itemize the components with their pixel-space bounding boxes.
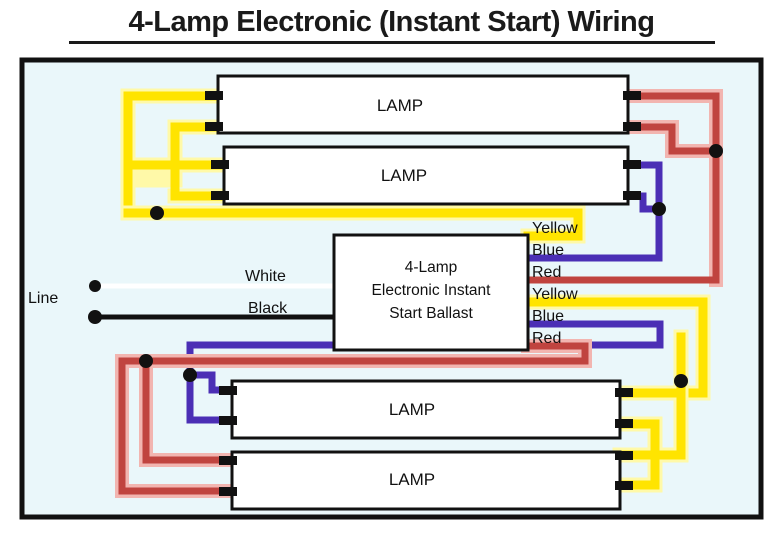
ballast-box: 4-Lamp Electronic Instant Start Ballast <box>334 235 528 350</box>
wire-label-red-3: Red <box>532 264 561 281</box>
wire-label-yellow-1: Yellow <box>532 220 578 237</box>
lamp-4-pin-left-bottom <box>219 487 237 496</box>
lamp-2-pin-right-top <box>623 160 641 169</box>
ballast-line-1: 4-Lamp <box>405 259 458 276</box>
junction-dot-line-white <box>89 280 101 292</box>
lamp-2-pin-right-bottom <box>623 191 641 200</box>
wire-label-yellow-4: Yellow <box>532 286 578 303</box>
lamp-4-pin-right-top <box>615 451 633 460</box>
lamp-2-pin-left-bottom <box>211 191 229 200</box>
lamp-4-pin-left-top <box>219 456 237 465</box>
junction-dot-blue-bottom-left <box>183 368 197 382</box>
lamp-3-pin-left-bottom <box>219 416 237 425</box>
junction-dot-yellow-bottom-right <box>674 374 688 388</box>
lamp-2: LAMP <box>211 147 641 204</box>
junction-dot-yellow-top-left <box>150 206 164 220</box>
lamp-1-pin-right-top <box>623 91 641 100</box>
junction-dot-blue-top-right <box>652 202 666 216</box>
lamp-3: LAMP <box>219 381 633 438</box>
junction-dot-red-bottom-left <box>139 354 153 368</box>
lamp-3-label: LAMP <box>389 400 435 419</box>
lamp-4: LAMP <box>219 451 633 509</box>
lamp-4-label: LAMP <box>389 470 435 489</box>
wiring-diagram: LAMP LAMP LAMP LAMP 4-Lamp Electronic In… <box>0 0 783 541</box>
ballast-line-3: Start Ballast <box>389 305 473 322</box>
lamp-1-pin-left-bottom <box>205 122 223 131</box>
lamp-1-pin-left-top <box>205 91 223 100</box>
lamp-1-pin-right-bottom <box>623 122 641 131</box>
lamp-1-label: LAMP <box>377 96 423 115</box>
lamp-3-pin-left-top <box>219 386 237 395</box>
white-wire-label: White <box>245 268 286 285</box>
ballast-line-2: Electronic Instant <box>372 282 492 299</box>
wire-label-blue-5: Blue <box>532 308 564 325</box>
lamp-2-pin-left-top <box>211 160 229 169</box>
lamp-4-pin-right-bottom <box>615 481 633 490</box>
lamp-1: LAMP <box>205 76 641 133</box>
lamp-3-pin-right-bottom <box>615 419 633 428</box>
line-label: Line <box>28 290 58 307</box>
junction-dot-line-black <box>88 310 102 324</box>
junction-dot-red-top-right <box>709 144 723 158</box>
lamp-3-pin-right-top <box>615 388 633 397</box>
wire-label-red-6: Red <box>532 330 561 347</box>
lamp-2-label: LAMP <box>381 166 427 185</box>
wire-label-blue-2: Blue <box>532 242 564 259</box>
black-wire-label: Black <box>248 300 288 317</box>
